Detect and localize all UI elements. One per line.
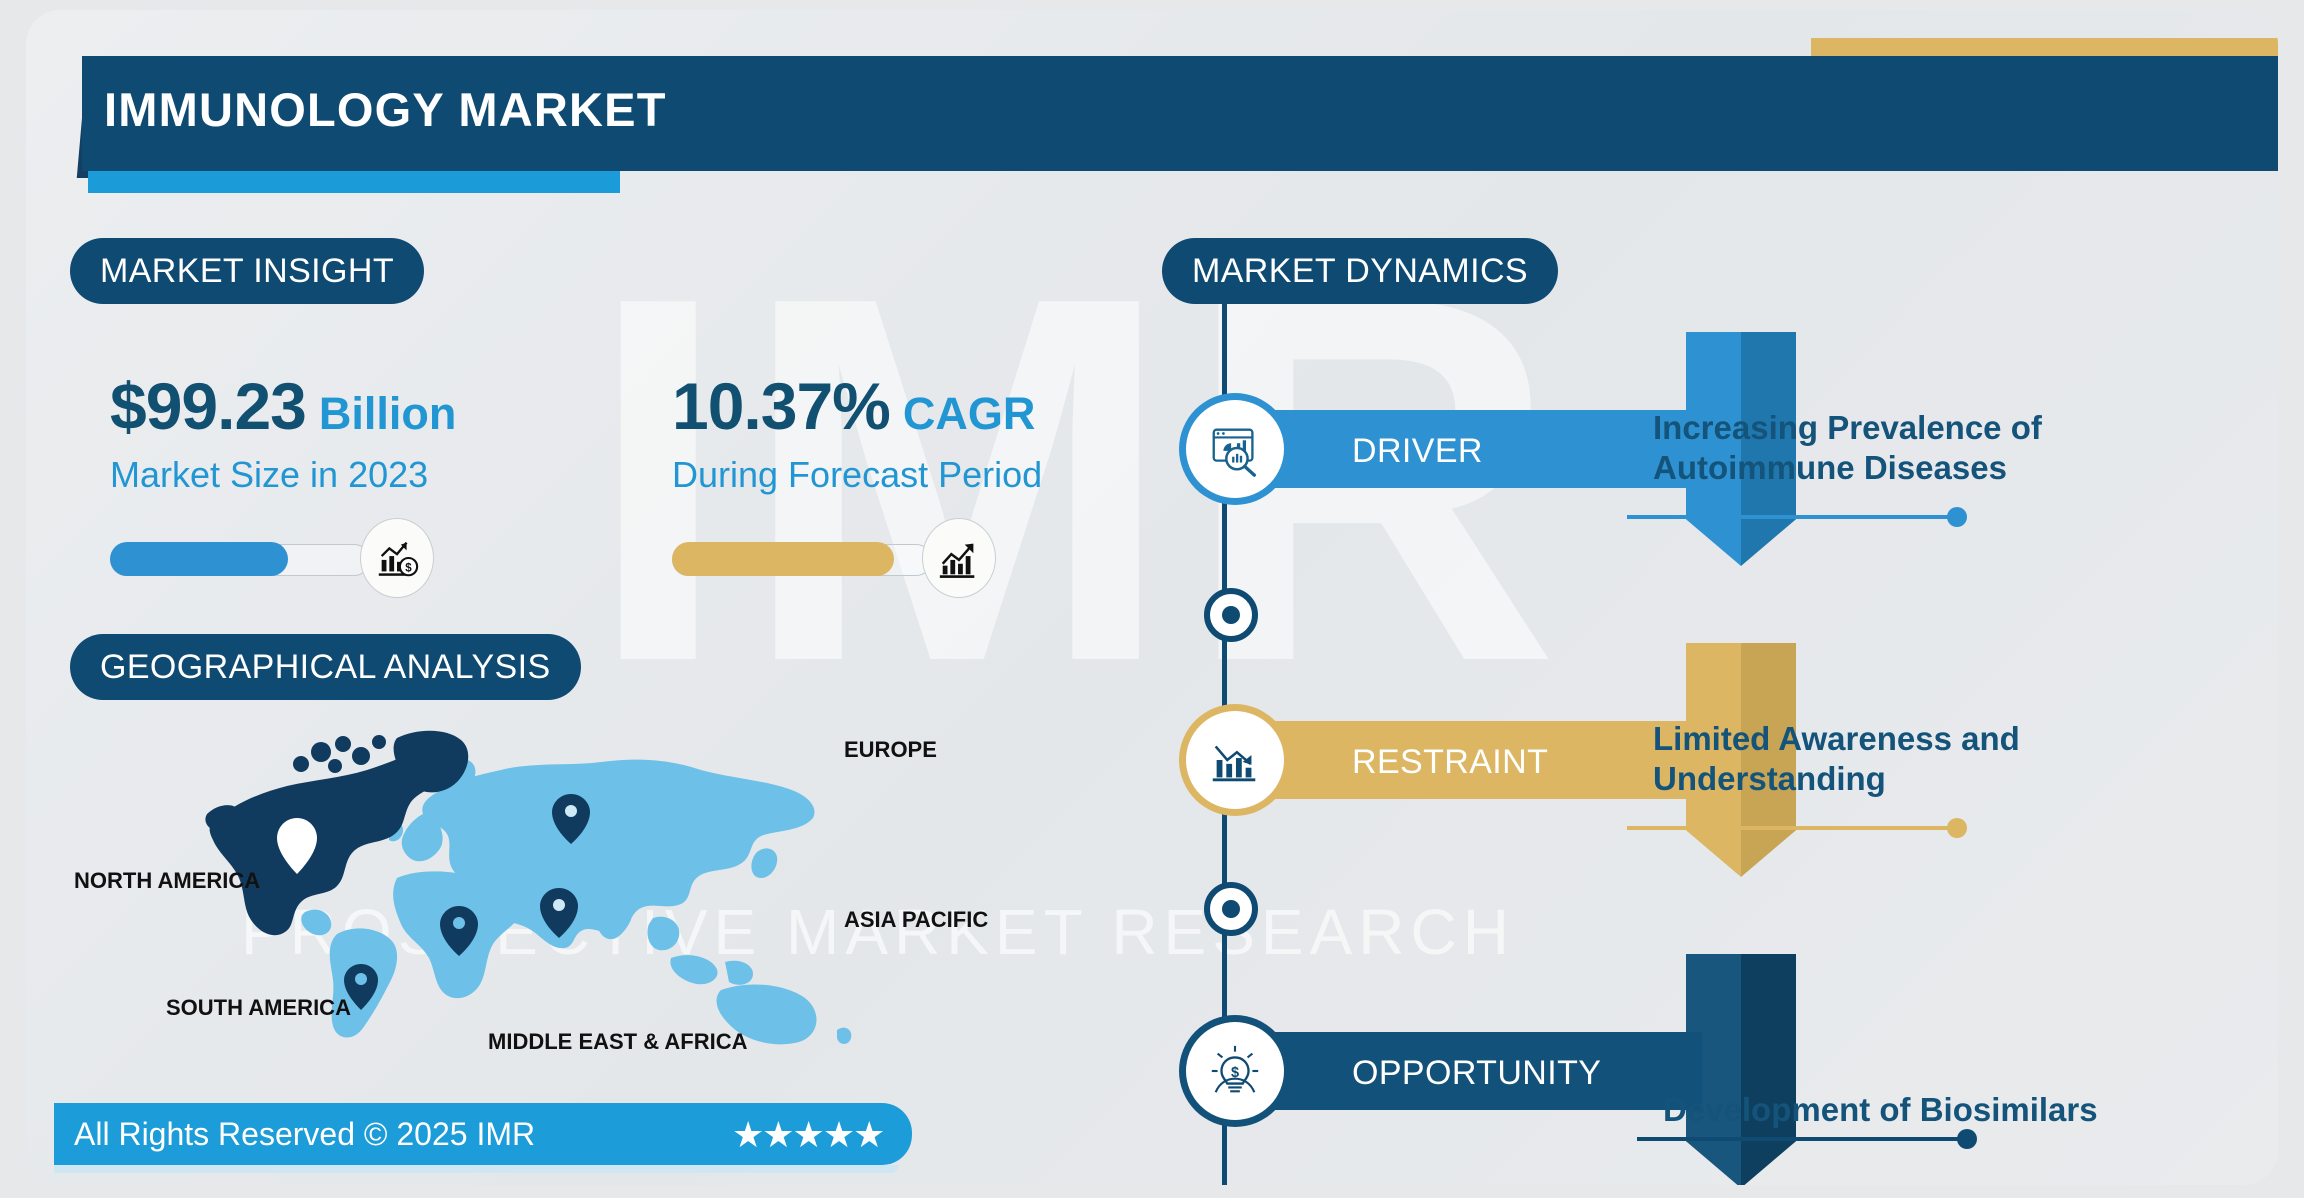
restraint-outcome-line2: Understanding — [1653, 759, 2020, 799]
cagr-value: 10.37% — [672, 368, 890, 444]
driver-outcome: Increasing Prevalence of Autoimmune Dise… — [1653, 408, 2042, 489]
stat-cagr: 10.37%CAGR During Forecast Period — [672, 368, 1042, 496]
infographic-page: IMR PROSPECTIVE MARKET RESEARCH IMMUNOLO… — [0, 0, 2304, 1198]
opportunity-endpoint-dot — [1957, 1129, 1977, 1149]
driver-endpoint-dot — [1947, 507, 1967, 527]
restraint-outcome-line1: Limited Awareness and — [1653, 719, 2020, 759]
progress-fill — [110, 542, 288, 576]
stat-market-size: $99.23Billion Market Size in 2023 — [110, 368, 456, 496]
opportunity-label: OPPORTUNITY — [1352, 1054, 1601, 1093]
opportunity-outcome-line1: Development of Biosimilars — [1663, 1090, 2098, 1130]
restraint-outcome: Limited Awareness and Understanding — [1653, 719, 2020, 800]
map-label-asia-pacific: ASIA PACIFIC — [844, 907, 988, 933]
map-label-europe: EUROPE — [844, 737, 937, 763]
page-title: IMMUNOLOGY MARKET — [104, 82, 667, 137]
restraint-underline — [1627, 826, 1957, 830]
market-size-value: $99.23 — [110, 368, 306, 444]
cagr-caption: During Forecast Period — [672, 454, 1042, 496]
header-gold-accent — [1811, 38, 2278, 58]
map-label-middle-east-africa: MIDDLE EAST & AFRICA — [488, 1029, 748, 1055]
rating-stars: ★★★★★ — [732, 1114, 883, 1156]
timeline-node-1 — [1204, 588, 1258, 642]
bar-chart-dollar-icon: $ — [360, 518, 434, 598]
geographical-analysis-heading: GEOGRAPHICAL ANALYSIS — [70, 634, 581, 700]
copyright-text: All Rights Reserved © 2025 IMR — [74, 1116, 535, 1153]
cagr-unit: CAGR — [903, 388, 1036, 440]
opportunity-outcome: Development of Biosimilars — [1663, 1090, 2098, 1130]
market-dynamics-heading: MARKET DYNAMICS — [1162, 238, 1558, 304]
timeline-node-2 — [1204, 882, 1258, 936]
restraint-endpoint-dot — [1947, 818, 1967, 838]
market-size-caption: Market Size in 2023 — [110, 454, 456, 496]
declining-bar-chart-icon — [1186, 711, 1284, 809]
driver-label: DRIVER — [1352, 432, 1483, 471]
footer-shadow — [54, 1165, 899, 1173]
restraint-label: RESTRAINT — [1352, 743, 1548, 782]
growth-chart-arrow-icon — [922, 518, 996, 598]
infographic-card: IMR PROSPECTIVE MARKET RESEARCH IMMUNOLO… — [26, 10, 2278, 1185]
dashboard-magnifier-icon — [1186, 400, 1284, 498]
driver-underline — [1627, 515, 1957, 519]
opportunity-underline — [1637, 1137, 1967, 1141]
driver-outcome-line1: Increasing Prevalence of — [1653, 408, 2042, 448]
progress-fill — [672, 542, 894, 576]
market-insight-heading: MARKET INSIGHT — [70, 238, 424, 304]
svg-text:$: $ — [405, 562, 412, 574]
header-underline-accent — [88, 171, 620, 193]
driver-outcome-line2: Autoimmune Diseases — [1653, 448, 2042, 488]
map-label-south-america: SOUTH AMERICA — [166, 995, 351, 1021]
lightbulb-dollar-icon: $ — [1186, 1022, 1284, 1120]
opportunity-arrow — [1686, 954, 1796, 1185]
market-size-unit: Billion — [319, 388, 456, 440]
map-label-north-america: NORTH AMERICA — [74, 868, 260, 894]
